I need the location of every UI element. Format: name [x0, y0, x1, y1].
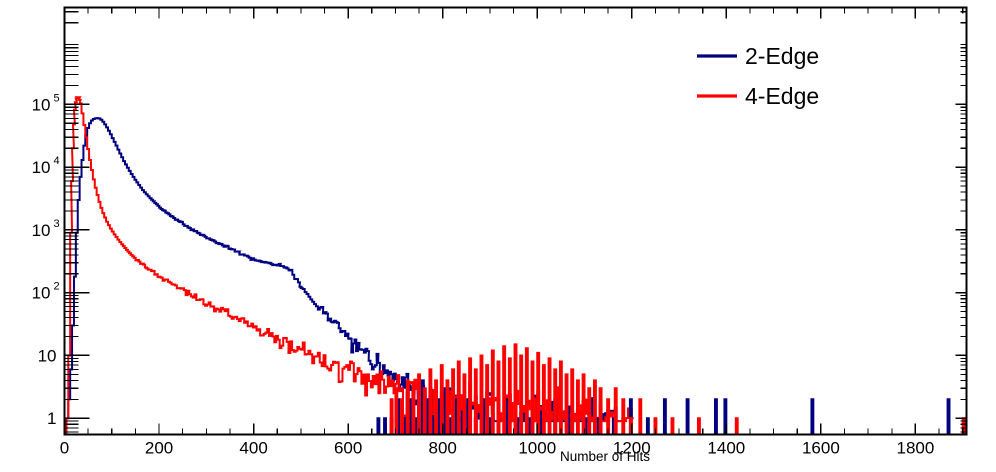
- tail-spike: [577, 380, 579, 434]
- tail-spike: [469, 358, 471, 434]
- plot-canvas: 0200400600800100012001400160018001101021…: [0, 0, 996, 472]
- tail-spike: [537, 353, 539, 435]
- y-tick-label-mantissa: 10: [32, 284, 51, 303]
- tail-spike: [412, 388, 414, 434]
- y-tick-label-mantissa: 10: [32, 95, 51, 114]
- tail-spike: [446, 380, 448, 434]
- y-tick-label-mantissa: 10: [38, 346, 57, 365]
- tail-spike: [583, 374, 585, 434]
- tail-spike: [588, 388, 590, 434]
- tail-spike: [384, 418, 386, 434]
- x-tick-label: 600: [334, 439, 362, 458]
- tail-spike: [520, 355, 522, 434]
- tail-spike: [458, 362, 460, 435]
- tail-spike: [736, 418, 738, 434]
- tail-spike: [554, 369, 556, 434]
- x-tick-label: 0: [60, 439, 69, 458]
- x-tick-label: 1800: [897, 439, 935, 458]
- histogram-svg: 0200400600800100012001400160018001101021…: [0, 0, 996, 472]
- y-tick-label-mantissa: 1: [47, 409, 56, 428]
- tail-spike: [571, 369, 573, 434]
- tail-spike: [687, 399, 689, 434]
- tail-spike: [475, 369, 477, 434]
- tail-spike: [429, 369, 431, 434]
- tail-spike: [526, 348, 528, 434]
- tail-spike: [486, 365, 488, 434]
- tail-spike: [391, 399, 393, 434]
- tail-spike: [948, 399, 950, 434]
- tail-spike: [424, 388, 426, 434]
- x-tick-label: 800: [429, 439, 457, 458]
- tail-spike: [395, 388, 397, 434]
- tail-spike: [377, 418, 379, 434]
- tail-spike: [515, 344, 517, 434]
- tail-spike: [481, 355, 483, 434]
- y-tick-label-exponent: 2: [54, 281, 60, 293]
- tail-spike: [464, 374, 466, 434]
- tail-spike: [566, 374, 568, 434]
- y-tick-label-exponent: 3: [54, 218, 60, 230]
- legend-label-2-edge: 2-Edge: [745, 43, 819, 69]
- tail-spike: [600, 388, 602, 434]
- y-tick-label: 10: [38, 346, 57, 365]
- tail-spike: [560, 362, 562, 435]
- tail-spike: [594, 380, 596, 434]
- tail-spike: [647, 418, 649, 434]
- x-tick-label: 200: [145, 439, 173, 458]
- x-tick-label: 400: [239, 439, 267, 458]
- y-tick-label: 1: [47, 409, 56, 428]
- tail-spike: [435, 380, 437, 434]
- legend-label-4-edge: 4-Edge: [745, 83, 819, 109]
- tail-spike: [698, 418, 700, 434]
- tail-spike: [503, 346, 505, 434]
- tail-spike: [452, 369, 454, 434]
- tail-spike: [543, 365, 545, 434]
- tail-spike: [549, 358, 551, 434]
- tail-spike: [492, 350, 494, 434]
- tail-spike: [401, 399, 403, 434]
- tail-spike: [509, 358, 511, 434]
- tail-spike: [639, 399, 641, 434]
- tail-spike: [418, 374, 420, 434]
- tail-spike: [811, 399, 813, 434]
- tail-spike: [615, 388, 617, 434]
- tail-spike: [672, 418, 674, 434]
- x-axis-title: Number of Hits: [560, 449, 650, 464]
- tail-spike: [532, 362, 534, 435]
- x-tick-label: 1000: [518, 439, 556, 458]
- x-tick-label: 1600: [802, 439, 840, 458]
- y-tick-label-mantissa: 10: [32, 158, 51, 177]
- tail-spike: [715, 399, 717, 434]
- x-tick-label: 1400: [707, 439, 745, 458]
- tail-spike: [664, 399, 666, 434]
- y-tick-label-exponent: 4: [54, 155, 60, 167]
- tail-spike: [407, 380, 409, 434]
- y-tick-label-mantissa: 10: [32, 221, 51, 240]
- tail-spike: [622, 399, 624, 434]
- y-tick-label-exponent: 5: [54, 92, 60, 104]
- tail-spike: [498, 362, 500, 435]
